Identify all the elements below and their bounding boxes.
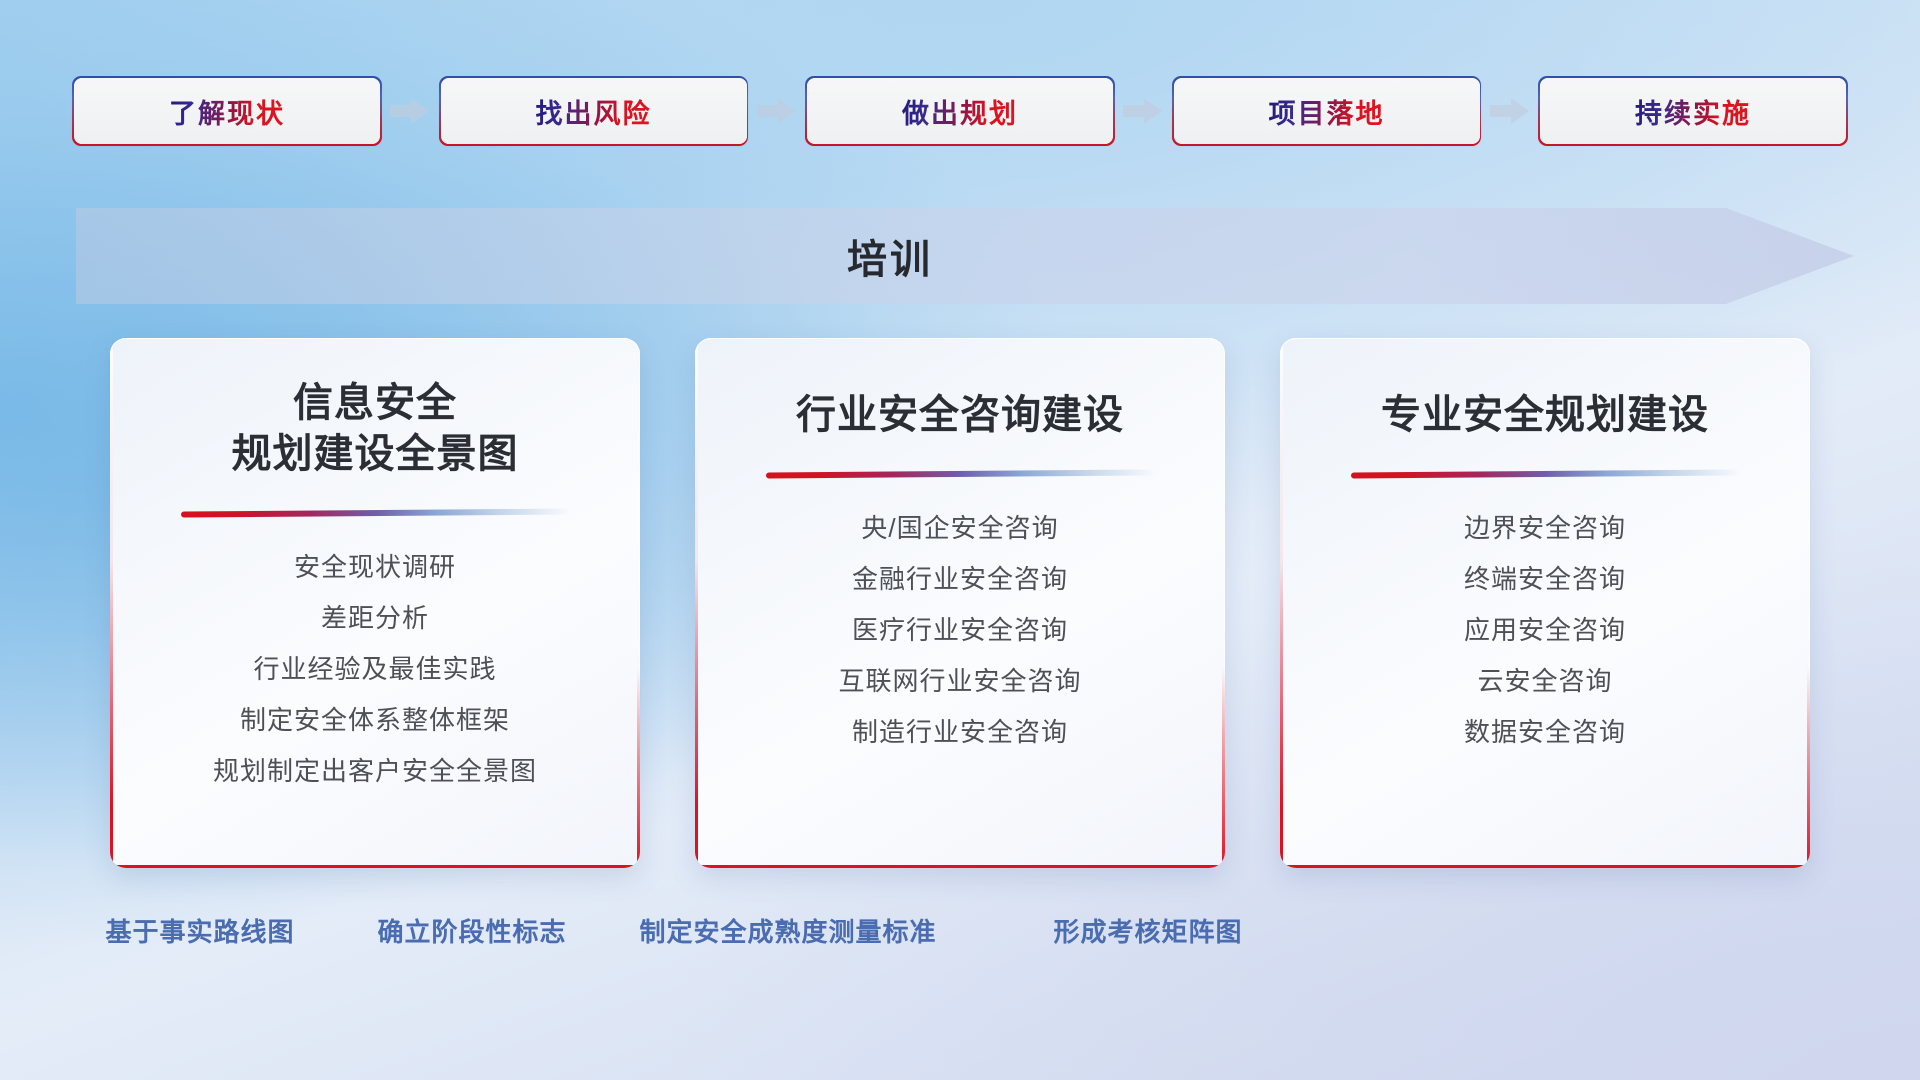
card-row: 信息安全 规划建设全景图 安全现状调研 差距分析 行业经验及最佳实践 制定安全体…	[110, 338, 1810, 868]
caption-roadmap: 基于事实路线图	[105, 912, 294, 949]
card-item-list: 安全现状调研 差距分析 行业经验及最佳实践 制定安全体系整体框架 规划制定出客户…	[110, 554, 640, 784]
card-title-line: 信息安全	[128, 378, 622, 429]
card-divider-wrap	[695, 471, 1225, 477]
card-left-accent-rail	[1280, 338, 1283, 868]
card-list-item: 安全现状调研	[110, 554, 640, 580]
process-step-1-label: 了解现状	[169, 92, 285, 131]
card-list-item: 制造行业安全咨询	[695, 719, 1225, 745]
card-title-line: 专业安全规划建设	[1298, 390, 1792, 441]
card-title: 行业安全咨询建设	[695, 390, 1225, 441]
process-step-row: 了解现状 找出风险 做出规划 项目落地	[74, 78, 1846, 144]
card-list-item: 差距分析	[110, 605, 640, 631]
card-list-item: 边界安全咨询	[1280, 515, 1810, 541]
caption-row: 基于事实路线图 确立阶段性标志 制定安全成熟度测量标准 形成考核矩阵图	[0, 912, 1920, 958]
process-step-4-inner: 项目落地	[1174, 78, 1480, 144]
card-list-item: 医疗行业安全咨询	[695, 617, 1225, 643]
card-list-item: 规划制定出客户安全全景图	[110, 758, 640, 784]
card-industry-consulting[interactable]: 行业安全咨询建设 央/国企安全咨询 金融行业安全咨询 医疗行业安全咨询 互联网行…	[695, 338, 1225, 868]
arrow-right-icon	[1490, 96, 1530, 126]
card-bottom-accent-rail	[1280, 865, 1810, 869]
card-list-item: 应用安全咨询	[1280, 617, 1810, 643]
card-list-item: 央/国企安全咨询	[695, 515, 1225, 541]
card-title-line: 行业安全咨询建设	[713, 390, 1207, 441]
caption-maturity: 制定安全成熟度测量标准	[639, 912, 936, 949]
card-title: 信息安全 规划建设全景图	[110, 378, 640, 480]
card-divider	[181, 509, 569, 518]
process-step-2-inner: 找出风险	[441, 78, 747, 144]
process-step-4-label: 项目落地	[1269, 92, 1385, 131]
card-professional-planning[interactable]: 专业安全规划建设 边界安全咨询 终端安全咨询 应用安全咨询 云安全咨询 数据安全…	[1280, 338, 1810, 868]
caption-milestones: 确立阶段性标志	[377, 912, 566, 949]
process-step-2-label: 找出风险	[536, 92, 652, 131]
card-right-accent-rail	[1222, 667, 1225, 868]
arrow-right-icon	[1123, 96, 1163, 126]
card-list-item: 云安全咨询	[1280, 668, 1810, 694]
process-step-1[interactable]: 了解现状	[74, 78, 380, 144]
card-list-item: 数据安全咨询	[1280, 719, 1810, 745]
process-step-5-inner: 持续实施	[1540, 78, 1846, 144]
card-security-blueprint[interactable]: 信息安全 规划建设全景图 安全现状调研 差距分析 行业经验及最佳实践 制定安全体…	[110, 338, 640, 868]
arrow-right-icon	[390, 96, 430, 126]
card-divider	[1351, 470, 1739, 479]
slide-root: 了解现状 找出风险 做出规划 项目落地	[0, 0, 1920, 1080]
process-step-3[interactable]: 做出规划	[807, 78, 1113, 144]
card-title-line: 规划建设全景图	[128, 429, 622, 480]
card-bottom-accent-rail	[110, 865, 640, 869]
card-divider-wrap	[1280, 471, 1810, 477]
card-left-accent-rail	[695, 338, 698, 868]
training-banner-label: 培训	[76, 227, 1854, 285]
card-list-item: 互联网行业安全咨询	[695, 668, 1225, 694]
process-step-3-label: 做出规划	[902, 92, 1018, 131]
card-bottom-accent-rail	[695, 865, 1225, 869]
process-step-1-inner: 了解现状	[74, 78, 380, 144]
card-list-item: 行业经验及最佳实践	[110, 656, 640, 682]
process-step-5[interactable]: 持续实施	[1540, 78, 1846, 144]
process-step-2[interactable]: 找出风险	[441, 78, 747, 144]
card-item-list: 央/国企安全咨询 金融行业安全咨询 医疗行业安全咨询 互联网行业安全咨询 制造行…	[695, 515, 1225, 745]
card-right-accent-rail	[1807, 667, 1810, 868]
card-left-accent-rail	[110, 338, 113, 868]
process-step-5-label: 持续实施	[1635, 92, 1751, 131]
card-title: 专业安全规划建设	[1280, 390, 1810, 441]
process-step-4[interactable]: 项目落地	[1174, 78, 1480, 144]
process-step-3-inner: 做出规划	[807, 78, 1113, 144]
card-list-item: 制定安全体系整体框架	[110, 707, 640, 733]
training-banner: 培训	[76, 208, 1854, 304]
card-list-item: 金融行业安全咨询	[695, 566, 1225, 592]
caption-kpi-matrix: 形成考核矩阵图	[1053, 912, 1242, 949]
card-list-item: 终端安全咨询	[1280, 566, 1810, 592]
card-divider	[766, 470, 1154, 479]
card-item-list: 边界安全咨询 终端安全咨询 应用安全咨询 云安全咨询 数据安全咨询	[1280, 515, 1810, 745]
arrow-right-icon	[757, 96, 797, 126]
card-divider-wrap	[110, 510, 640, 516]
card-right-accent-rail	[637, 667, 640, 868]
